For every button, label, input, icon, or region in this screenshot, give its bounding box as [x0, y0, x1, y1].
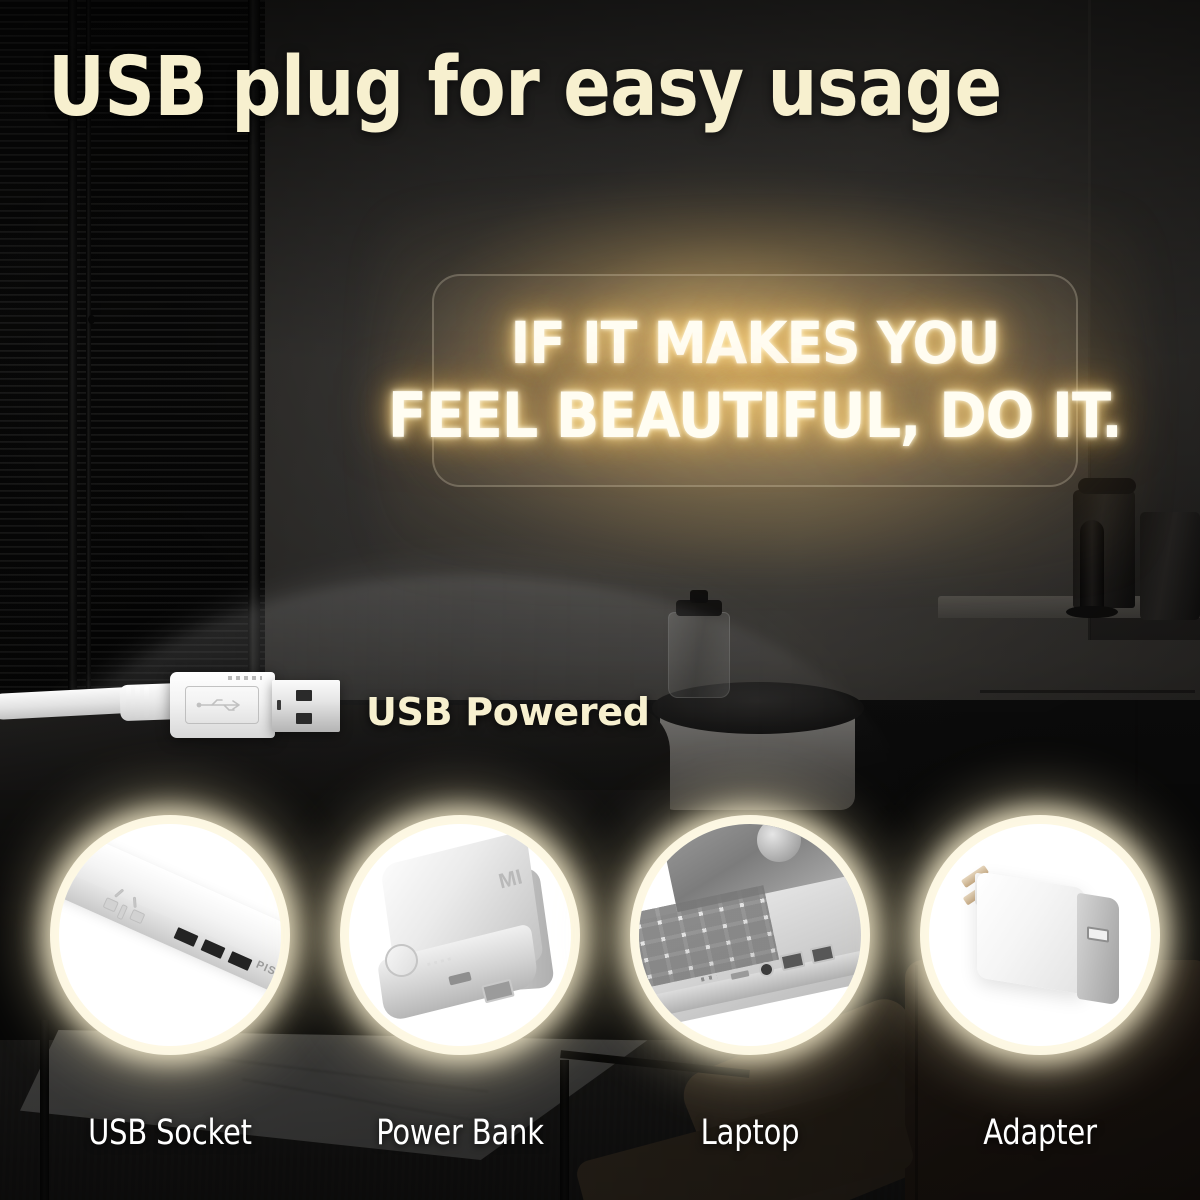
socket-pin: [103, 897, 119, 912]
socket-pin: [116, 904, 128, 920]
product-circle-power-bank: MI: [349, 824, 571, 1046]
caption-power-bank: Power Bank: [327, 1113, 594, 1153]
product-spotlight-row: PISEN MI: [0, 0, 1200, 1200]
socket-pin: [114, 888, 124, 897]
usb-socket-illustration: PISEN: [59, 824, 281, 1046]
adapter-body: [977, 871, 1085, 994]
product-circle-adapter: [929, 824, 1151, 1046]
adapter-illustration: [929, 824, 1151, 1046]
adapter-side-panel: [1077, 893, 1119, 1006]
product-marketing-image: IF IT MAKES YOU FEEL BEAUTIFUL, DO IT. U…: [0, 0, 1200, 1200]
product-circle-usb-socket: PISEN: [59, 824, 281, 1046]
caption-laptop: Laptop: [617, 1113, 884, 1153]
caption-usb-socket: USB Socket: [37, 1113, 304, 1153]
socket-pin: [129, 909, 145, 924]
product-circle-laptop: [639, 824, 861, 1046]
caption-adapter: Adapter: [907, 1113, 1174, 1153]
laptop-illustration: [639, 824, 861, 1046]
power-bank-illustration: MI: [349, 824, 571, 1046]
socket-pin: [133, 897, 137, 908]
